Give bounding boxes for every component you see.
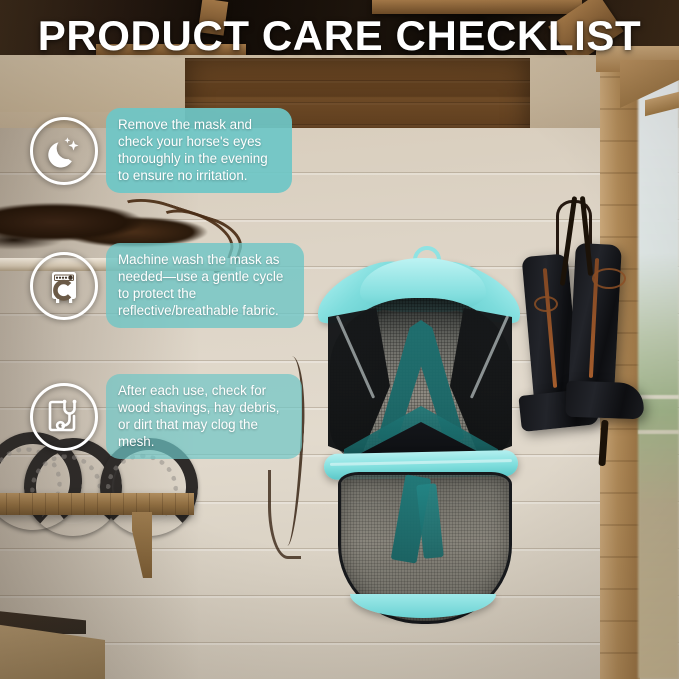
boot-logo-badge [592, 268, 626, 289]
pasture-fence-rail-2 [638, 430, 679, 434]
outdoor-pasture-view [638, 70, 679, 679]
care-tip-2: Machine wash the mask as needed—use a ge… [30, 243, 304, 328]
care-tip-3-text: After each use, check for wood shavings,… [106, 374, 302, 459]
mask-nose-trim [350, 594, 496, 618]
infographic-canvas: PRODUCT CARE CHECKLIST Remove the mask a… [0, 0, 679, 679]
moon-stars-icon [30, 117, 98, 185]
wall-plank-light [0, 60, 190, 112]
horse-fly-mask-product [318, 246, 524, 624]
care-tip-1: Remove the mask and check your horse's e… [30, 108, 292, 193]
riding-boot-right-foot [565, 381, 644, 420]
boot-logo-badge-2 [534, 296, 558, 312]
care-tip-1-text: Remove the mask and check your horse's e… [106, 108, 292, 193]
washing-machine-icon [30, 252, 98, 320]
lower-shelf [0, 493, 194, 515]
page-title: PRODUCT CARE CHECKLIST [0, 12, 679, 60]
inspect-stethoscope-icon [30, 383, 98, 451]
care-tip-2-text: Machine wash the mask as needed—use a ge… [106, 243, 304, 328]
care-tip-3: After each use, check for wood shavings,… [30, 374, 302, 459]
pasture-fence-rail-1 [638, 395, 679, 399]
